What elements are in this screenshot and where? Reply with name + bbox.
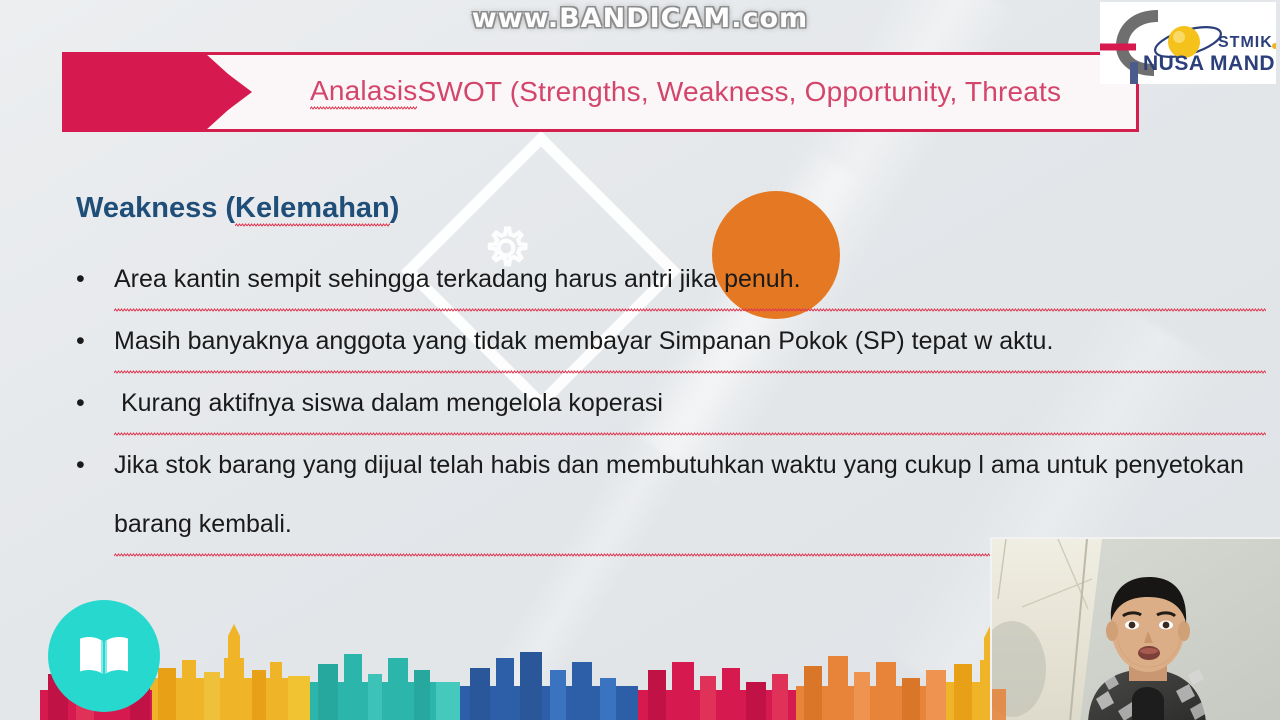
title-misspelled-word: Analasis bbox=[310, 75, 417, 110]
heading-prefix: Weakness ( bbox=[76, 192, 235, 224]
chevron-right-icon bbox=[180, 50, 264, 134]
skyline-blue-section bbox=[460, 652, 638, 720]
bullet-marker: • bbox=[76, 374, 114, 433]
skyline-amber-section bbox=[150, 624, 310, 720]
book-badge bbox=[48, 600, 160, 712]
section-heading: Weakness (Kelemahan) bbox=[76, 192, 399, 225]
bullet-text: Kurang aktifnya siswa dalam mengelola ko… bbox=[114, 374, 1266, 436]
heading-suffix: ) bbox=[390, 192, 400, 224]
bullet-text: Area kantin sempit sehingga terkadang ha… bbox=[114, 250, 1266, 312]
bullet-marker: • bbox=[76, 436, 114, 495]
list-item: • Area kantin sempit sehingga terkadang … bbox=[76, 250, 1266, 312]
skyline-teal-section bbox=[310, 654, 460, 720]
heading-misspelled-word: Kelemahan bbox=[235, 192, 390, 227]
list-item: • Masih banyaknya anggota yang tidak mem… bbox=[76, 312, 1266, 374]
list-item: • Kurang aktifnya siswa dalam mengelola … bbox=[76, 374, 1266, 436]
bullet-text: Masih banyaknya anggota yang tidak memba… bbox=[114, 312, 1266, 374]
stmik-nusa-mandiri-logo: STMIK NUSA MANDIRI bbox=[1100, 2, 1276, 84]
bullet-list: • Area kantin sempit sehingga terkadang … bbox=[76, 250, 1266, 557]
slide-title-text: Analasis SWOT (Strengths, Weakness, Oppo… bbox=[310, 52, 1061, 132]
bullet-marker: • bbox=[76, 312, 114, 371]
skyline-orange-section bbox=[796, 656, 946, 720]
slide-title-banner: Analasis SWOT (Strengths, Weakness, Oppo… bbox=[62, 52, 1139, 132]
open-book-icon bbox=[75, 633, 133, 679]
presenter-webcam-overlay[interactable] bbox=[990, 537, 1280, 720]
title-rest: SWOT (Strengths, Weakness, Opportunity, … bbox=[417, 76, 1061, 108]
svg-text:STMIK: STMIK bbox=[1218, 34, 1273, 51]
bullet-marker: • bbox=[76, 250, 114, 309]
svg-text:NUSA MANDIRI: NUSA MANDIRI bbox=[1143, 52, 1276, 75]
skyline-crimson-section bbox=[638, 662, 798, 720]
